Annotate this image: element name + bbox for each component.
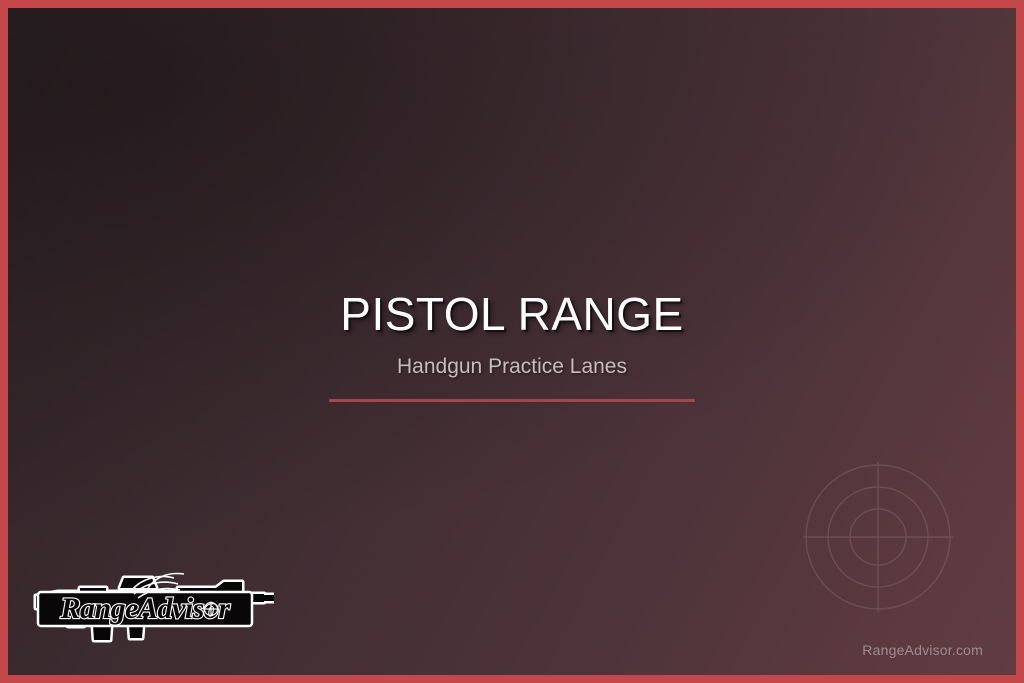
- title-divider: [329, 399, 695, 402]
- title-slide: PISTOL RANGE Handgun Practice Lanes: [0, 0, 1024, 683]
- footer-url: RangeAdvisor.com: [862, 642, 983, 658]
- brand-logo: RangeAdvisor: [28, 564, 274, 650]
- page-subtitle: Handgun Practice Lanes: [8, 356, 1016, 377]
- page-title: PISTOL RANGE: [8, 291, 1016, 337]
- title-block: PISTOL RANGE Handgun Practice Lanes: [8, 291, 1016, 402]
